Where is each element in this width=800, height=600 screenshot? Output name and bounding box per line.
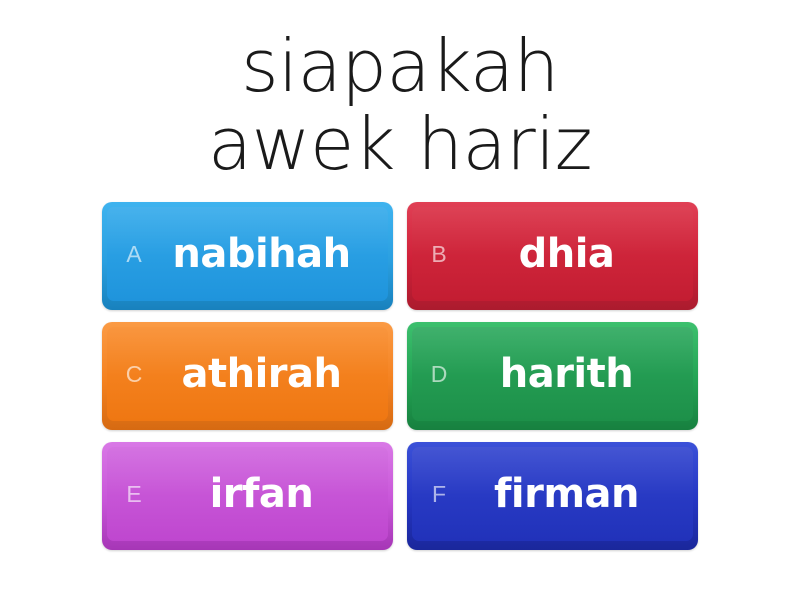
question-text: siapakah awek hariz bbox=[208, 28, 592, 184]
answer-label-e: irfan bbox=[161, 473, 388, 515]
answer-tile-d[interactable]: D harith bbox=[407, 322, 698, 430]
answer-label-c: athirah bbox=[161, 353, 388, 395]
answer-tile-e-face: E irfan bbox=[107, 447, 388, 541]
answer-letter-c: C bbox=[107, 363, 161, 386]
answer-label-f: firman bbox=[466, 473, 693, 515]
answer-tile-f-face: F firman bbox=[412, 447, 693, 541]
answer-letter-a: A bbox=[107, 243, 161, 266]
answers-grid: A nabihah B dhia C athirah D harith bbox=[102, 202, 698, 550]
answer-tile-b-face: B dhia bbox=[412, 207, 693, 301]
answer-tile-a[interactable]: A nabihah bbox=[102, 202, 393, 310]
question-area: siapakah awek hariz bbox=[20, 16, 780, 196]
answer-letter-b: B bbox=[412, 243, 466, 266]
answer-letter-f: F bbox=[412, 483, 466, 506]
answer-label-d: harith bbox=[466, 353, 693, 395]
answer-label-a: nabihah bbox=[161, 233, 388, 275]
answer-label-b: dhia bbox=[466, 233, 693, 275]
quiz-stage: siapakah awek hariz A nabihah B dhia C a… bbox=[0, 0, 800, 600]
answer-tile-f[interactable]: F firman bbox=[407, 442, 698, 550]
answer-tile-c[interactable]: C athirah bbox=[102, 322, 393, 430]
answer-tile-d-face: D harith bbox=[412, 327, 693, 421]
answer-tile-c-face: C athirah bbox=[107, 327, 388, 421]
answer-letter-d: D bbox=[412, 363, 466, 386]
answer-tile-b[interactable]: B dhia bbox=[407, 202, 698, 310]
answer-letter-e: E bbox=[107, 483, 161, 506]
answer-tile-e[interactable]: E irfan bbox=[102, 442, 393, 550]
answer-tile-a-face: A nabihah bbox=[107, 207, 388, 301]
